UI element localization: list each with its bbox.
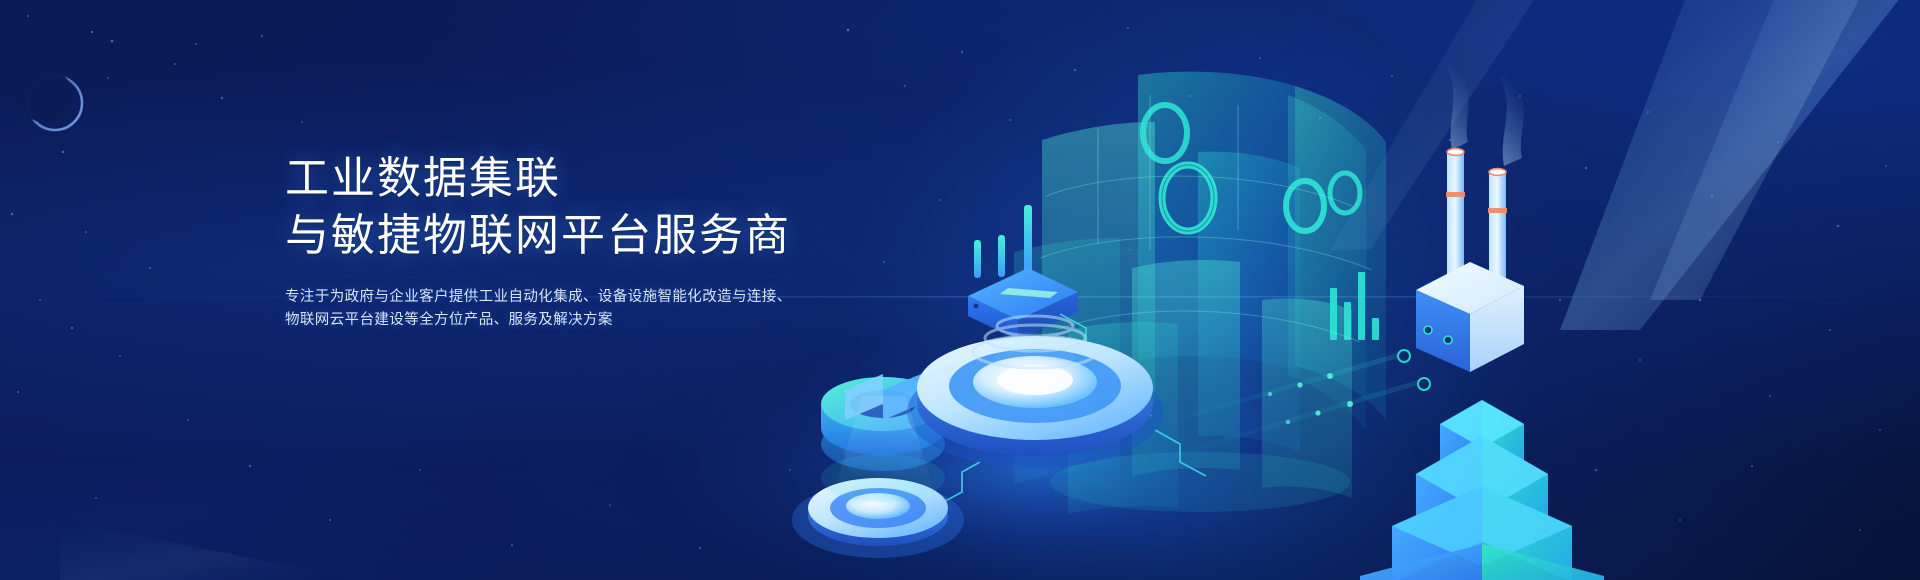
router-antenna-mid <box>998 235 1005 277</box>
page-title: 工业数据集联 与敏捷物联网平台服务商 <box>285 150 925 264</box>
hero-text-block: 工业数据集联 与敏捷物联网平台服务商 专注于为政府与企业客户提供工业自动化集成、… <box>285 150 925 332</box>
page-subtitle: 专注于为政府与企业客户提供工业自动化集成、设备设施智能化改造与连接、 物联网云平… <box>285 286 925 332</box>
smoke-plume-left <box>1446 60 1469 150</box>
router-port <box>974 304 979 309</box>
hero-banner: 工业数据集联 与敏捷物联网平台服务商 专注于为政府与企业客户提供工业自动化集成、… <box>0 0 1920 580</box>
subtitle-line-2: 物联网云平台建设等全方位产品、服务及解决方案 <box>285 309 925 332</box>
smoke-plume-right <box>1500 74 1524 166</box>
stack-left <box>1447 152 1464 276</box>
headline-line-2: 与敏捷物联网平台服务商 <box>285 207 925 264</box>
subtitle-line-1: 专注于为政府与企业客户提供工业自动化集成、设备设施智能化改造与连接、 <box>285 286 925 309</box>
stack-right <box>1489 172 1506 284</box>
router-antenna-short <box>974 240 981 278</box>
router-antenna-tall <box>1024 205 1032 273</box>
headline-line-1: 工业数据集联 <box>285 150 925 207</box>
step-pyramid <box>1360 400 1604 580</box>
smokestack-factory <box>1416 60 1524 372</box>
